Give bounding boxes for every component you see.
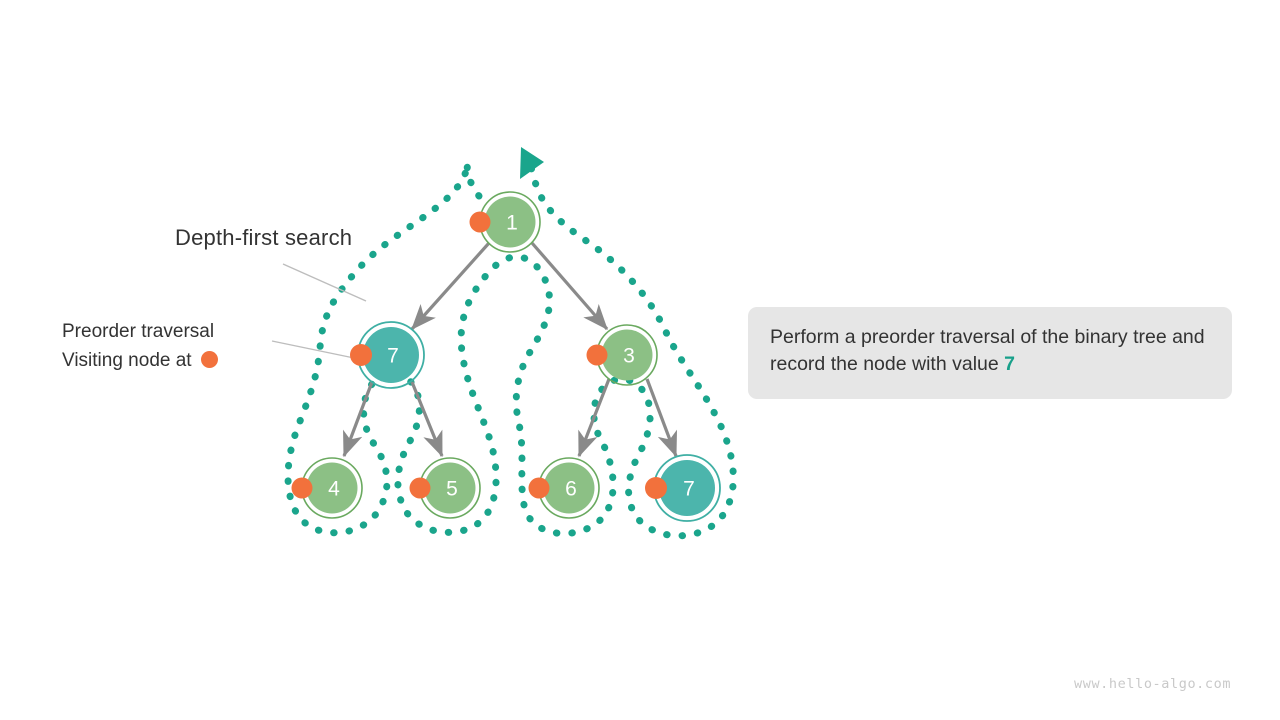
diagram-canvas: 1 7 3 4 5 (0, 0, 1280, 720)
visit-dot-icon (470, 212, 491, 233)
node-value: 3 (623, 345, 635, 368)
node-value: 7 (387, 345, 399, 368)
orange-dot-icon (201, 351, 218, 368)
edge-1-3 (532, 243, 607, 329)
watermark: www.hello-algo.com (1074, 676, 1231, 692)
dfs-label: Depth-first search (175, 225, 352, 251)
tree-node-3[interactable]: 3 (587, 325, 658, 385)
visit-dot-icon (529, 478, 550, 499)
edge-7-4 (344, 382, 372, 456)
edge-7-5 (412, 382, 442, 456)
node-value: 6 (565, 478, 577, 501)
tree-node-5[interactable]: 5 (410, 458, 481, 518)
visit-dot-icon (350, 344, 372, 366)
edge-3-6 (579, 379, 609, 456)
node-value: 4 (328, 478, 340, 501)
visit-dot-icon (645, 477, 667, 499)
callout-text: Perform a preorder traversal of the bina… (770, 324, 1210, 378)
callout-text-body: Perform a preorder traversal of the bina… (770, 326, 1205, 375)
callout-box: Perform a preorder traversal of the bina… (748, 307, 1232, 399)
tree-node-1[interactable]: 1 (470, 192, 541, 252)
tree-node-7-left[interactable]: 7 (350, 322, 424, 388)
edge-3-7b (647, 379, 676, 456)
callout-highlight-value: 7 (1004, 353, 1015, 375)
visit-dot-icon (587, 345, 608, 366)
node-value: 5 (446, 478, 458, 501)
edge-1-7 (412, 243, 489, 329)
preorder-legend-line2: Visiting node at (62, 346, 218, 375)
preorder-legend-line1: Preorder traversal (62, 317, 218, 346)
node-value: 1 (506, 212, 518, 235)
visit-dot-icon (410, 478, 431, 499)
tree-node-7-right[interactable]: 7 (645, 455, 720, 521)
tree-node-6[interactable]: 6 (529, 458, 600, 518)
preorder-legend: Preorder traversal Visiting node at (62, 317, 218, 375)
tree-node-4[interactable]: 4 (292, 458, 363, 518)
node-value: 7 (683, 478, 695, 501)
preorder-legend-line2-text: Visiting node at (62, 350, 192, 371)
visit-dot-icon (292, 478, 313, 499)
